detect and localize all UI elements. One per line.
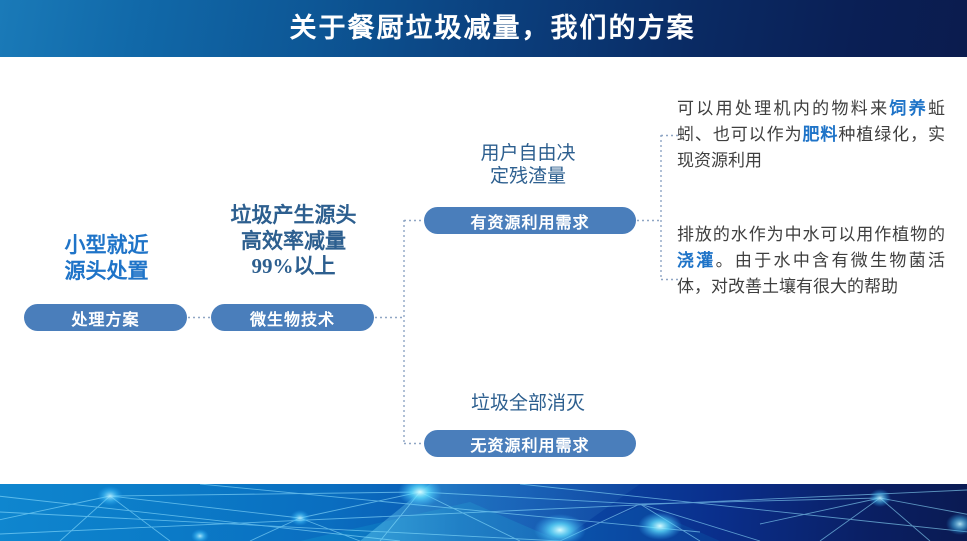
page-title: 关于餐厨垃圾减量，我们的方案	[0, 0, 967, 57]
network-node	[946, 513, 967, 535]
pill-microbial-technology[interactable]: 微生物技术	[211, 304, 374, 331]
highlighted-term: 肥料	[803, 125, 839, 144]
network-node	[869, 489, 891, 507]
stage1-heading: 小型就近 源头处置	[14, 233, 199, 284]
paragraph-text: 。由于水中含有微生物菌活体，对改善土壤有很大的帮助	[677, 251, 945, 296]
branch2-heading: 垃圾全部消灭	[428, 392, 628, 415]
detail-paragraph-fertilizer: 可以用处理机内的物料来饲养蚯蚓、也可以作为肥料种植绿化，实现资源利用	[677, 96, 945, 173]
network-node	[638, 512, 682, 540]
paragraph-text: 排放的水作为中水可以用作植物的	[677, 225, 945, 244]
network-node	[191, 529, 209, 541]
network-constellation-graphic	[0, 484, 967, 541]
network-node	[97, 486, 123, 506]
network-node	[290, 510, 310, 526]
stage2-heading: 垃圾产生源头 高效率减量 99%以上	[196, 203, 391, 280]
pill-no-resource-demand[interactable]: 无资源利用需求	[424, 430, 636, 457]
slide-canvas: 关于餐厨垃圾减量，我们的方案 小型就近 源头处置 处理方案 垃圾产生源头 高效率…	[0, 0, 967, 541]
highlighted-term: 浇灌	[677, 251, 716, 270]
branch1-heading: 用户自由决 定残渣量	[428, 142, 628, 188]
pill-processing-plan[interactable]: 处理方案	[24, 304, 187, 331]
highlighted-term: 饲养	[889, 99, 928, 118]
paragraph-text: 可以用处理机内的物料来	[677, 99, 889, 118]
detail-paragraph-water-irrigation: 排放的水作为中水可以用作植物的浇灌。由于水中含有微生物菌活体，对改善土壤有很大的…	[677, 222, 945, 299]
footer-banner	[0, 484, 967, 541]
pill-has-resource-demand[interactable]: 有资源利用需求	[424, 207, 636, 234]
